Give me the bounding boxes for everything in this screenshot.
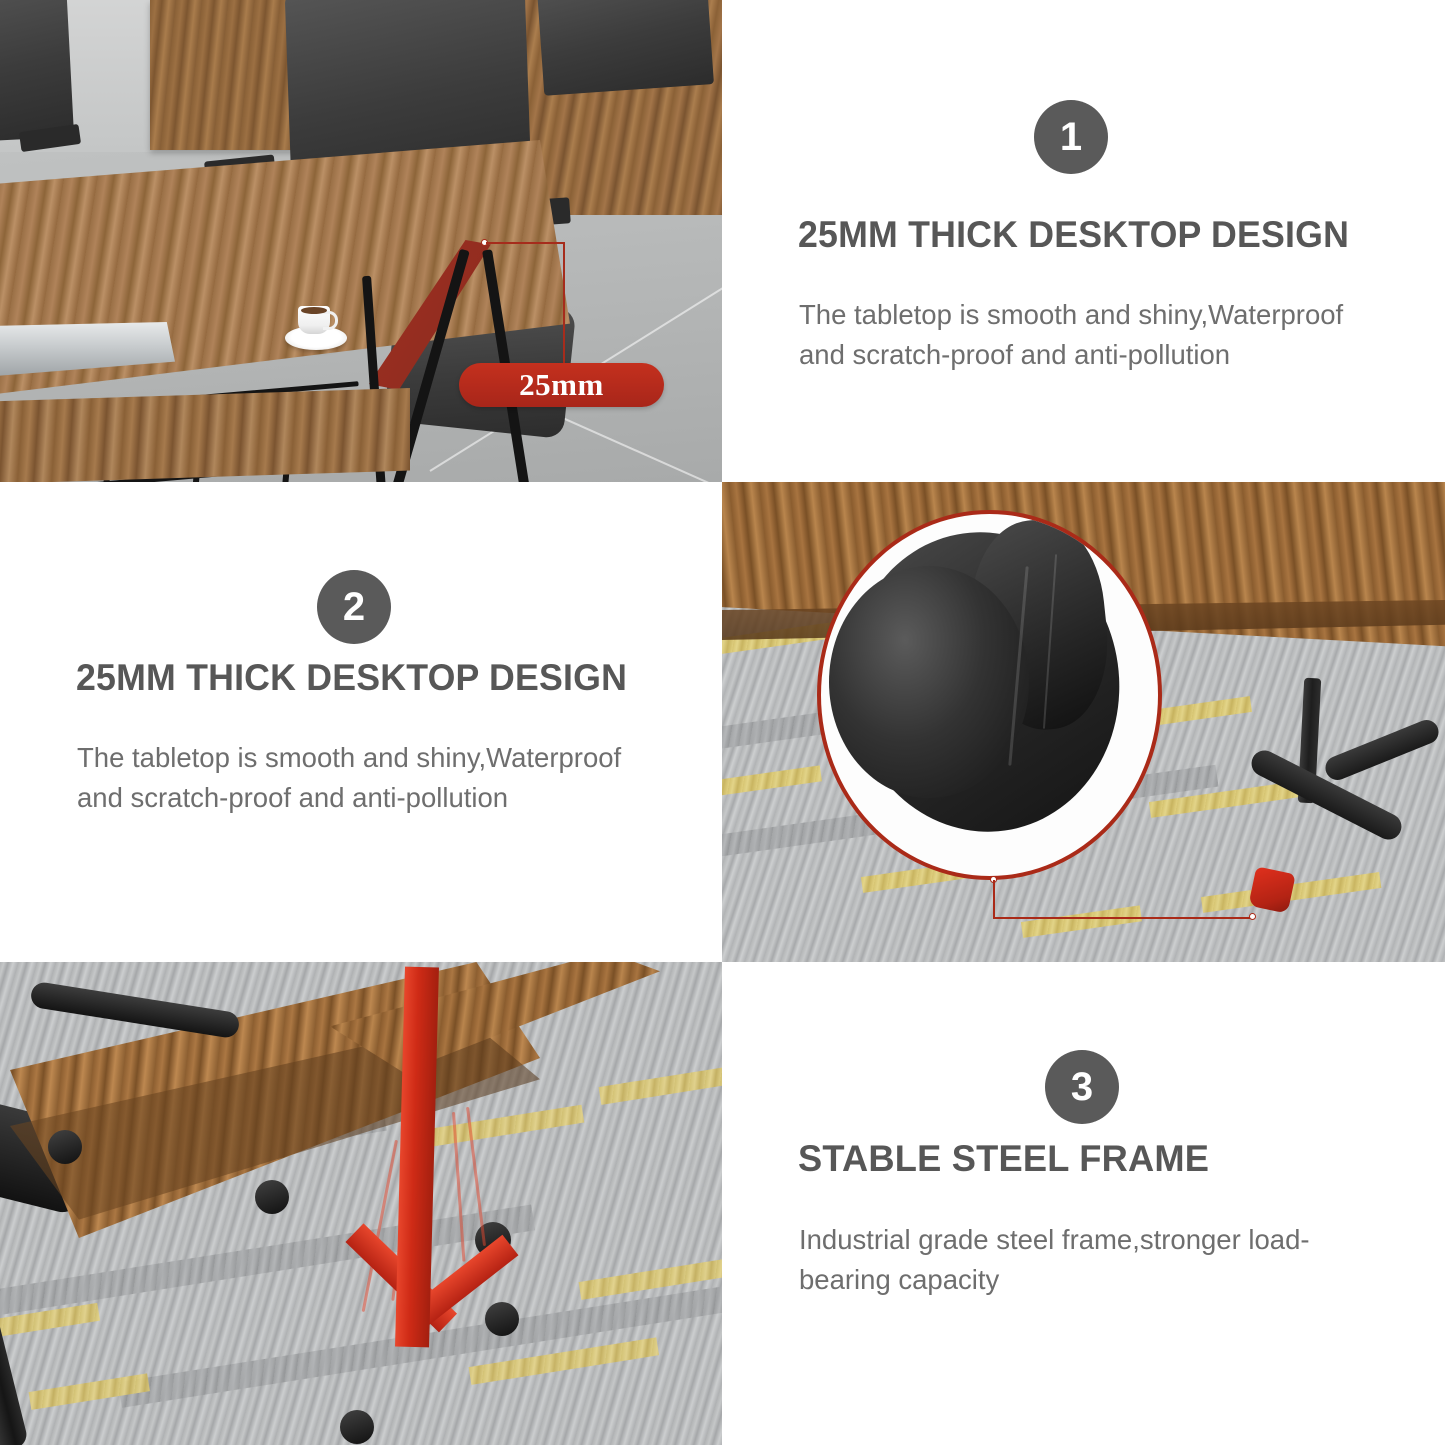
black-caster [485, 1302, 519, 1336]
feature-3-text-panel: 3 STABLE STEEL FRAME Industrial grade st… [722, 962, 1445, 1445]
callout-line-vertical [993, 880, 995, 918]
feature-2-photo [722, 482, 1445, 962]
feature-body-3: Industrial grade steel frame,stronger lo… [799, 1220, 1359, 1300]
magnifier-circle [817, 510, 1162, 880]
feature-number-badge-3: 3 [1045, 1050, 1119, 1124]
caster-wheel-face [829, 566, 1029, 798]
feature-number-badge-1: 1 [1034, 100, 1108, 174]
callout-line-horizontal [993, 917, 1253, 919]
black-caster [340, 1410, 374, 1444]
caster-wheel-closeup-photo [722, 482, 1445, 962]
feature-body-1: The tabletop is smooth and shiny,Waterpr… [799, 295, 1389, 375]
callout-line-vertical [563, 242, 565, 370]
feature-number-badge-2: 2 [317, 570, 391, 644]
feature-title-2: 25MM THICK DESKTOP DESIGN [76, 657, 627, 699]
feature-title-3: STABLE STEEL FRAME [798, 1138, 1209, 1180]
feature-2-text-panel: 2 25MM THICK DESKTOP DESIGN The tabletop… [0, 482, 722, 962]
feature-body-2: The tabletop is smooth and shiny,Waterpr… [77, 738, 667, 818]
foreground-table [0, 388, 410, 482]
callout-badge-25mm: 25mm [459, 363, 664, 407]
feature-3-photo [0, 962, 722, 1445]
callout-line-horizontal [486, 242, 564, 244]
black-caster [48, 1130, 82, 1164]
coffee-liquid [301, 307, 327, 314]
feature-1-text-panel: 1 25MM THICK DESKTOP DESIGN The tabletop… [722, 0, 1445, 482]
feature-1-photo: 25mm [0, 0, 722, 482]
steel-frame-leg-photo [0, 962, 722, 1445]
office-chair [536, 0, 714, 96]
callout-end-dot [1249, 913, 1256, 920]
office-chair [0, 0, 74, 143]
black-caster [255, 1180, 289, 1214]
feature-title-1: 25MM THICK DESKTOP DESIGN [798, 214, 1349, 256]
product-feature-infographic: 25mm 1 25MM THICK DESKTOP DESIGN The tab… [0, 0, 1445, 1445]
conference-table-desktop-photo: 25mm [0, 0, 722, 482]
